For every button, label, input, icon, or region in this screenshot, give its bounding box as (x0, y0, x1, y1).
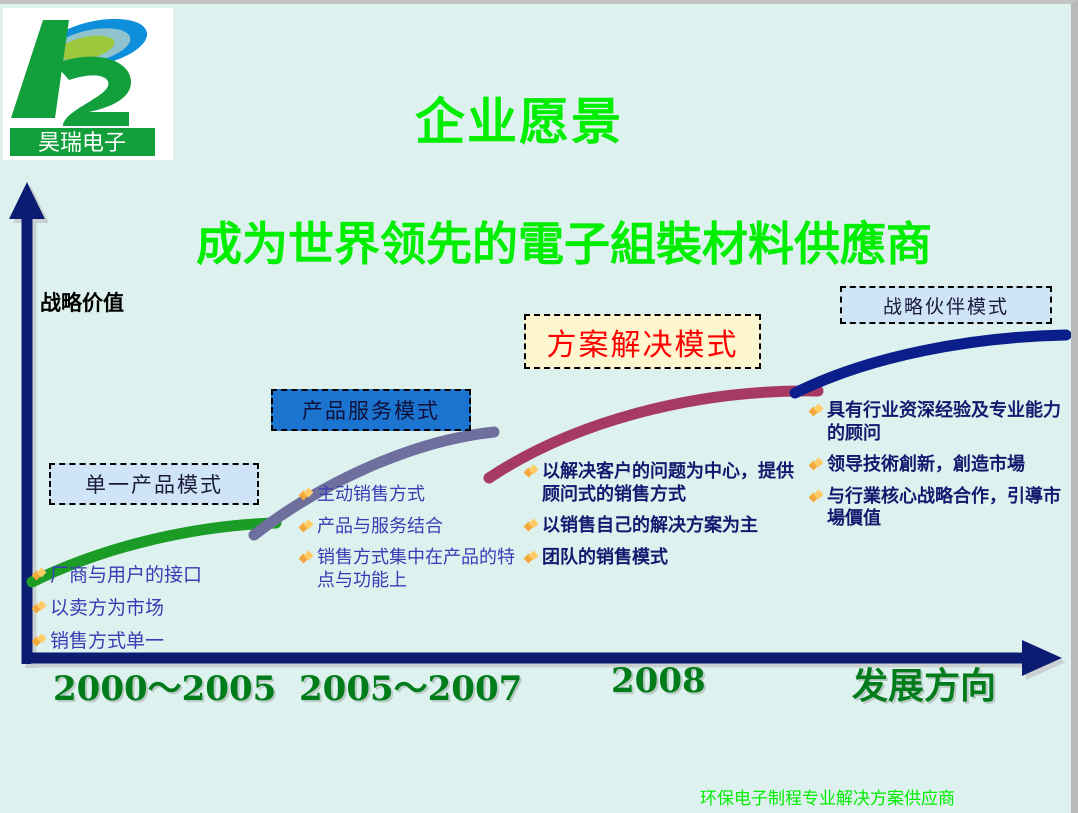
bullet-group-stage-2: 主动销售方式 产品与服务结合 销售方式集中在产品的特点与功能上 (300, 484, 530, 601)
diamond-bullet-icon (525, 520, 538, 533)
bullet-label: 以卖方为市场 (50, 597, 164, 621)
diamond-bullet-icon (300, 521, 313, 534)
bullet-label: 具有行业资深经验及专业能力的顾问 (827, 400, 1072, 445)
diamond-bullet-icon (300, 552, 313, 565)
bullet-label: 以销售自己的解决方案为主 (542, 515, 758, 538)
x-tick-2008: 2008 (611, 661, 706, 701)
bullet-label: 主动销售方式 (317, 484, 425, 507)
x-tick-2000-2005: 2000～2005 (53, 661, 276, 710)
list-item: 领导技術創新，創造市場 (810, 454, 1072, 477)
slide-title: 企业愿景 (415, 82, 623, 154)
list-item: 以销售自己的解决方案为主 (525, 515, 810, 538)
stage-box-solution[interactable]: 方案解决模式 (524, 314, 761, 369)
list-item: 以卖方为市场 (33, 597, 283, 621)
y-axis-label: 战略价值 (40, 287, 124, 317)
list-item: 厂商与用户的接口 (33, 564, 283, 588)
bullet-label: 销售方式单一 (50, 630, 164, 654)
diamond-bullet-icon (300, 489, 313, 502)
list-item: 以解决客户的问题为中心，提供顾问式的销售方式 (525, 461, 810, 506)
company-logo: 昊瑞电子 (3, 8, 173, 160)
bullet-group-stage-3: 以解决客户的问题为中心，提供顾问式的销售方式 以销售自己的解决方案为主 团队的销… (525, 461, 810, 578)
curve-stage-4 (795, 335, 1066, 393)
logo-mark-icon: 昊瑞电子 (3, 8, 173, 160)
stage-box-product-service[interactable]: 产品服务模式 (271, 389, 471, 431)
bullet-group-stage-1: 厂商与用户的接口 以卖方为市场 销售方式单一 (33, 564, 283, 662)
bullet-label: 与行業核心战略合作，引導市場價值 (827, 486, 1072, 531)
diamond-bullet-icon (33, 635, 46, 648)
logo-company-name: 昊瑞电子 (38, 131, 126, 156)
slide-subtitle: 成为世界领先的電子組裝材料供應商 (196, 208, 932, 274)
list-item: 销售方式集中在产品的特点与功能上 (300, 547, 530, 592)
stage-box-strategic-partner[interactable]: 战略伙伴模式 (840, 286, 1052, 324)
diamond-bullet-icon (525, 466, 538, 479)
bullet-label: 以解决客户的问题为中心，提供顾问式的销售方式 (542, 461, 810, 506)
x-axis-label: 发展方向 (852, 657, 996, 709)
bullet-group-stage-4: 具有行业资深经验及专业能力的顾问 领导技術創新，創造市場 与行業核心战略合作，引… (810, 400, 1072, 540)
bullet-label: 领导技術創新，創造市場 (827, 454, 1025, 477)
bullet-label: 团队的销售模式 (542, 547, 668, 570)
diamond-bullet-icon (810, 491, 823, 504)
diamond-bullet-icon (33, 602, 46, 615)
list-item: 与行業核心战略合作，引導市場價值 (810, 486, 1072, 531)
list-item: 具有行业资深经验及专业能力的顾问 (810, 400, 1072, 445)
bullet-label: 厂商与用户的接口 (50, 564, 202, 588)
diamond-bullet-icon (525, 552, 538, 565)
slide-canvas: 昊瑞电子 企业愿景 成为世界领先的電子組裝材料供應商 战略价值 单一产品模式 产… (0, 0, 1078, 813)
list-item: 产品与服务结合 (300, 516, 530, 539)
diamond-bullet-icon (810, 459, 823, 472)
list-item: 主动销售方式 (300, 484, 530, 507)
list-item: 团队的销售模式 (525, 547, 810, 570)
list-item: 销售方式单一 (33, 630, 283, 654)
bullet-label: 产品与服务结合 (317, 516, 443, 539)
diamond-bullet-icon (810, 405, 823, 418)
bullet-label: 销售方式集中在产品的特点与功能上 (317, 547, 530, 592)
stage-box-single-product[interactable]: 单一产品模式 (49, 463, 259, 505)
slide-footer: 环保电子制程专业解决方案供应商 (700, 784, 955, 809)
diamond-bullet-icon (33, 569, 46, 582)
x-tick-2005-2007: 2005～2007 (299, 661, 522, 710)
